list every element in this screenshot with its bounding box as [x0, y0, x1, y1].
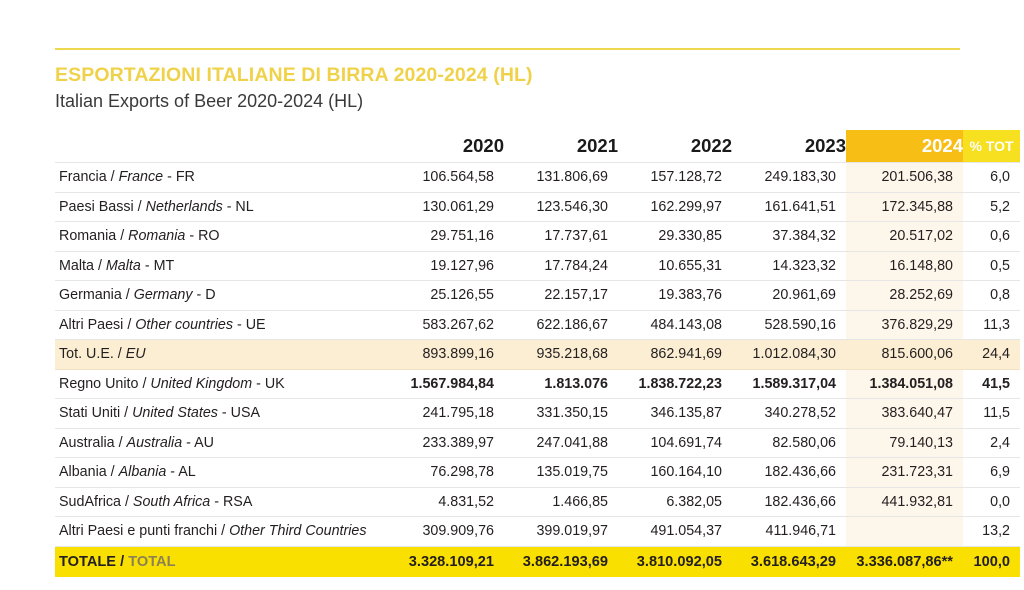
- row-label-it: Australia: [59, 435, 115, 451]
- cell-2020: 233.389,97: [390, 428, 504, 458]
- cell-2023: 411.946,71: [732, 517, 846, 547]
- row-label-code: - AL: [166, 464, 195, 480]
- table-row: Regno Unito / United Kingdom - UK1.567.9…: [55, 369, 1020, 399]
- row-label-it: Francia: [59, 169, 107, 185]
- cell-2020: 19.127,96: [390, 251, 504, 281]
- cell-pct-tot: 6,9: [963, 458, 1020, 488]
- row-label-en: France: [119, 169, 164, 185]
- row-label-code: - D: [193, 287, 216, 303]
- cell-2020: 29.751,16: [390, 222, 504, 252]
- table-row: Stati Uniti / United States - USA241.795…: [55, 399, 1020, 429]
- cell-2020: 106.564,58: [390, 163, 504, 193]
- table-row: Altri Paesi / Other countries - UE583.26…: [55, 310, 1020, 340]
- column-header-2021: 2021: [504, 130, 618, 163]
- cell-2020: 583.267,62: [390, 310, 504, 340]
- cell-2020: 893.899,16: [390, 340, 504, 370]
- cell-2024: [846, 517, 963, 547]
- row-label-code: - RSA: [210, 494, 252, 510]
- cell-2022: 19.383,76: [618, 281, 732, 311]
- cell-2020: 4.831,52: [390, 487, 504, 517]
- row-label-code: - FR: [163, 169, 195, 185]
- cell-2023: 1.589.317,04: [732, 369, 846, 399]
- cell-2023: 14.323,32: [732, 251, 846, 281]
- cell-2022: 6.382,05: [618, 487, 732, 517]
- table-row: Paesi Bassi / Netherlands - NL130.061,29…: [55, 192, 1020, 222]
- table-row: Altri Paesi e punti franchi / Other Thir…: [55, 517, 1020, 547]
- cell-2021: 135.019,75: [504, 458, 618, 488]
- cell-pct-tot: 0,0: [963, 487, 1020, 517]
- cell-2024: 201.506,38: [846, 163, 963, 193]
- exports-table-page: ESPORTAZIONI ITALIANE DI BIRRA 2020-2024…: [0, 0, 1024, 590]
- cell-2024: 815.600,06: [846, 340, 963, 370]
- column-header-2020: 2020: [390, 130, 504, 163]
- cell-2024: 79.140,13: [846, 428, 963, 458]
- row-label: Australia / Australia - AU: [55, 428, 390, 458]
- table-row: Germania / Germany - D25.126,5522.157,17…: [55, 281, 1020, 311]
- table-row: Tot. U.E. / EU893.899,16935.218,68862.94…: [55, 340, 1020, 370]
- cell-2021: 1.813.076: [504, 369, 618, 399]
- row-label-it: Germania: [59, 287, 122, 303]
- cell-2023: 340.278,52: [732, 399, 846, 429]
- row-label: Stati Uniti / United States - USA: [55, 399, 390, 429]
- cell-2021: 331.350,15: [504, 399, 618, 429]
- cell-pct-tot: 11,5: [963, 399, 1020, 429]
- column-header-2024: 2024: [846, 130, 963, 163]
- row-label-en: Germany: [134, 287, 193, 303]
- cell-2021: 622.186,67: [504, 310, 618, 340]
- cell-2022: 862.941,69: [618, 340, 732, 370]
- row-label-en: TOTAL: [128, 554, 175, 570]
- row-label-code: - UK: [252, 376, 285, 392]
- row-label: Germania / Germany - D: [55, 281, 390, 311]
- page-subtitle: Italian Exports of Beer 2020-2024 (HL): [55, 91, 960, 113]
- cell-pct-tot: 0,6: [963, 222, 1020, 252]
- row-label: Regno Unito / United Kingdom - UK: [55, 369, 390, 399]
- cell-2024: 1.384.051,08: [846, 369, 963, 399]
- row-label-it: Malta: [59, 258, 94, 274]
- cell-2023: 20.961,69: [732, 281, 846, 311]
- cell-2023: 161.641,51: [732, 192, 846, 222]
- table-body: Francia / France - FR106.564,58131.806,6…: [55, 163, 1020, 577]
- row-label-code: - UE: [233, 317, 266, 333]
- cell-pct-tot: 100,0: [963, 546, 1020, 577]
- cell-2024: 376.829,29: [846, 310, 963, 340]
- cell-pct-tot: 0,8: [963, 281, 1020, 311]
- cell-2022: 29.330,85: [618, 222, 732, 252]
- row-label-it: TOTALE: [59, 554, 116, 570]
- row-label-en: Australia: [127, 435, 183, 451]
- cell-2020: 25.126,55: [390, 281, 504, 311]
- table-row: TOTALE / TOTAL3.328.109,213.862.193,693.…: [55, 546, 1020, 577]
- cell-pct-tot: 13,2: [963, 517, 1020, 547]
- exports-data-table: 2020 2021 2022 2023 2024 % TOT Francia /…: [55, 130, 1020, 577]
- cell-2024: 231.723,31: [846, 458, 963, 488]
- cell-2020: 3.328.109,21: [390, 546, 504, 577]
- cell-2023: 249.183,30: [732, 163, 846, 193]
- cell-2021: 22.157,17: [504, 281, 618, 311]
- cell-2024: 3.336.087,86**: [846, 546, 963, 577]
- row-label-it: Altri Paesi e punti franchi: [59, 523, 217, 539]
- table-row: Albania / Albania - AL76.298,78135.019,7…: [55, 458, 1020, 488]
- cell-2022: 3.810.092,05: [618, 546, 732, 577]
- cell-2021: 131.806,69: [504, 163, 618, 193]
- row-label: Francia / France - FR: [55, 163, 390, 193]
- column-header-country: [55, 130, 390, 163]
- table-row: Australia / Australia - AU233.389,97247.…: [55, 428, 1020, 458]
- cell-2023: 528.590,16: [732, 310, 846, 340]
- cell-2022: 162.299,97: [618, 192, 732, 222]
- row-label: Romania / Romania - RO: [55, 222, 390, 252]
- row-label-it: Paesi Bassi: [59, 199, 134, 215]
- cell-2023: 82.580,06: [732, 428, 846, 458]
- row-label-it: Regno Unito: [59, 376, 138, 392]
- cell-2022: 10.655,31: [618, 251, 732, 281]
- row-label: Malta / Malta - MT: [55, 251, 390, 281]
- row-label: TOTALE / TOTAL: [55, 546, 390, 577]
- cell-2022: 157.128,72: [618, 163, 732, 193]
- row-label-en: Other countries: [135, 317, 233, 333]
- cell-2022: 484.143,08: [618, 310, 732, 340]
- cell-2023: 182.436,66: [732, 458, 846, 488]
- header-row: 2020 2021 2022 2023 2024 % TOT: [55, 130, 1020, 163]
- cell-2021: 1.466,85: [504, 487, 618, 517]
- cell-2021: 247.041,88: [504, 428, 618, 458]
- cell-2024: 16.148,80: [846, 251, 963, 281]
- page-title: ESPORTAZIONI ITALIANE DI BIRRA 2020-2024…: [55, 64, 960, 86]
- row-label: Paesi Bassi / Netherlands - NL: [55, 192, 390, 222]
- cell-2024: 172.345,88: [846, 192, 963, 222]
- row-label-it: Stati Uniti: [59, 405, 120, 421]
- row-label-it: Albania: [59, 464, 107, 480]
- cell-2020: 241.795,18: [390, 399, 504, 429]
- row-label-en: United Kingdom: [150, 376, 252, 392]
- cell-pct-tot: 5,2: [963, 192, 1020, 222]
- row-label-en: Malta: [106, 258, 141, 274]
- table-header: 2020 2021 2022 2023 2024 % TOT: [55, 130, 1020, 163]
- row-label-it: Tot. U.E.: [59, 346, 114, 362]
- cell-2020: 309.909,76: [390, 517, 504, 547]
- cell-2021: 17.737,61: [504, 222, 618, 252]
- cell-2023: 1.012.084,30: [732, 340, 846, 370]
- cell-2022: 160.164,10: [618, 458, 732, 488]
- cell-pct-tot: 2,4: [963, 428, 1020, 458]
- cell-2020: 1.567.984,84: [390, 369, 504, 399]
- row-label-code: - RO: [185, 228, 219, 244]
- row-label: Albania / Albania - AL: [55, 458, 390, 488]
- cell-2024: 20.517,02: [846, 222, 963, 252]
- row-label-en: Romania: [128, 228, 185, 244]
- cell-2022: 346.135,87: [618, 399, 732, 429]
- cell-2022: 104.691,74: [618, 428, 732, 458]
- column-header-2023: 2023: [732, 130, 846, 163]
- cell-pct-tot: 0,5: [963, 251, 1020, 281]
- row-label-en: Netherlands: [146, 199, 223, 215]
- cell-2021: 399.019,97: [504, 517, 618, 547]
- cell-2023: 182.436,66: [732, 487, 846, 517]
- row-label-code: - AU: [182, 435, 214, 451]
- cell-pct-tot: 6,0: [963, 163, 1020, 193]
- cell-2023: 3.618.643,29: [732, 546, 846, 577]
- row-label-code: - USA: [218, 405, 260, 421]
- row-label-en: Other Third Countries: [229, 523, 366, 539]
- cell-2021: 3.862.193,69: [504, 546, 618, 577]
- row-label-en: EU: [126, 346, 146, 362]
- cell-2020: 76.298,78: [390, 458, 504, 488]
- cell-2024: 383.640,47: [846, 399, 963, 429]
- row-label-en: Albania: [119, 464, 167, 480]
- cell-2021: 935.218,68: [504, 340, 618, 370]
- top-rule-divider: [55, 48, 960, 50]
- column-header-2022: 2022: [618, 130, 732, 163]
- row-label-it: SudAfrica: [59, 494, 121, 510]
- row-label: Tot. U.E. / EU: [55, 340, 390, 370]
- cell-pct-tot: 41,5: [963, 369, 1020, 399]
- column-header-pct-tot: % TOT: [963, 130, 1020, 163]
- row-label-it: Romania: [59, 228, 116, 244]
- table-row: Malta / Malta - MT19.127,9617.784,2410.6…: [55, 251, 1020, 281]
- row-label: Altri Paesi / Other countries - UE: [55, 310, 390, 340]
- cell-2023: 37.384,32: [732, 222, 846, 252]
- table-row: Francia / France - FR106.564,58131.806,6…: [55, 163, 1020, 193]
- table-sheet: ESPORTAZIONI ITALIANE DI BIRRA 2020-2024…: [55, 48, 960, 577]
- cell-2022: 491.054,37: [618, 517, 732, 547]
- cell-2024: 441.932,81: [846, 487, 963, 517]
- row-label-en: South Africa: [133, 494, 210, 510]
- row-label-code: - NL: [223, 199, 254, 215]
- cell-2021: 17.784,24: [504, 251, 618, 281]
- cell-2022: 1.838.722,23: [618, 369, 732, 399]
- table-row: Romania / Romania - RO29.751,1617.737,61…: [55, 222, 1020, 252]
- row-label-code: - MT: [141, 258, 174, 274]
- cell-2021: 123.546,30: [504, 192, 618, 222]
- row-label: SudAfrica / South Africa - RSA: [55, 487, 390, 517]
- cell-2020: 130.061,29: [390, 192, 504, 222]
- cell-2024: 28.252,69: [846, 281, 963, 311]
- row-label-it: Altri Paesi: [59, 317, 123, 333]
- cell-pct-tot: 24,4: [963, 340, 1020, 370]
- row-label: Altri Paesi e punti franchi / Other Thir…: [55, 517, 390, 547]
- cell-pct-tot: 11,3: [963, 310, 1020, 340]
- row-label-en: United States: [132, 405, 218, 421]
- table-row: SudAfrica / South Africa - RSA4.831,521.…: [55, 487, 1020, 517]
